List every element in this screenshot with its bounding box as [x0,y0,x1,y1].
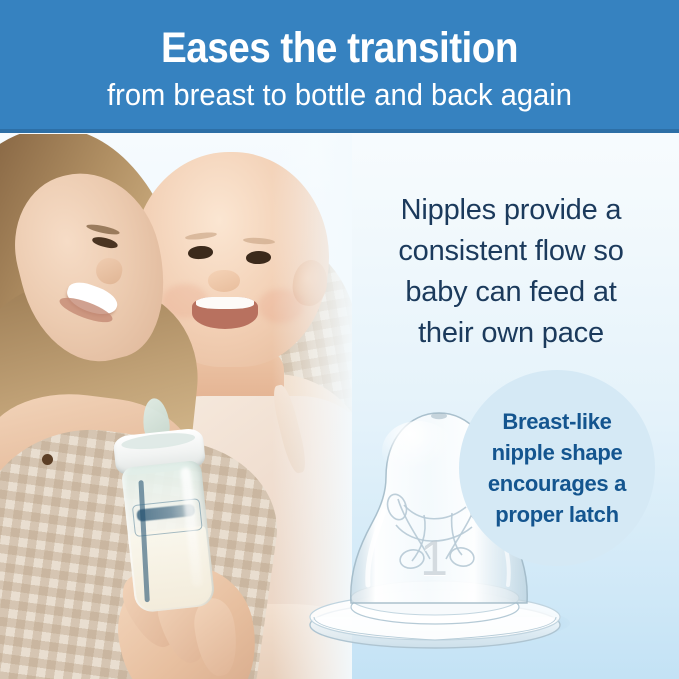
body-copy-line-2: consistent flow so [352,231,670,272]
body-copy: Nipples provide a consistent flow so bab… [352,190,670,354]
baby-nose [208,270,240,292]
banner-headline: Eases the transition [34,24,645,72]
callout-line-2: nipple shape [488,437,626,468]
baby-bottle [97,393,229,618]
baby-smile [192,297,258,329]
callout-line-4: proper latch [488,499,626,530]
banner-subheadline: from breast to bottle and back again [20,77,658,113]
banner-underline [0,129,679,133]
nipple-dome-highlight [382,421,454,481]
callout-line-1: Breast-like [488,406,626,437]
mother-shirt-button [42,454,53,465]
product-feature-infographic: Breast-like nipple shape encourages a pr… [0,0,679,679]
callout-badge: Breast-like nipple shape encourages a pr… [459,370,655,566]
body-copy-line-4: their own pace [352,313,670,354]
callout-line-3: encourages a [488,468,626,499]
body-copy-line-1: Nipples provide a [352,190,670,231]
callout-badge-text: Breast-like nipple shape encourages a pr… [482,406,632,530]
body-copy-line-3: baby can feed at [352,272,670,313]
header-banner: Eases the transition from breast to bott… [0,0,679,133]
nipple-vent-hole [431,413,447,419]
baby-teeth [196,297,254,309]
flow-level-marking: 1 [404,533,464,583]
